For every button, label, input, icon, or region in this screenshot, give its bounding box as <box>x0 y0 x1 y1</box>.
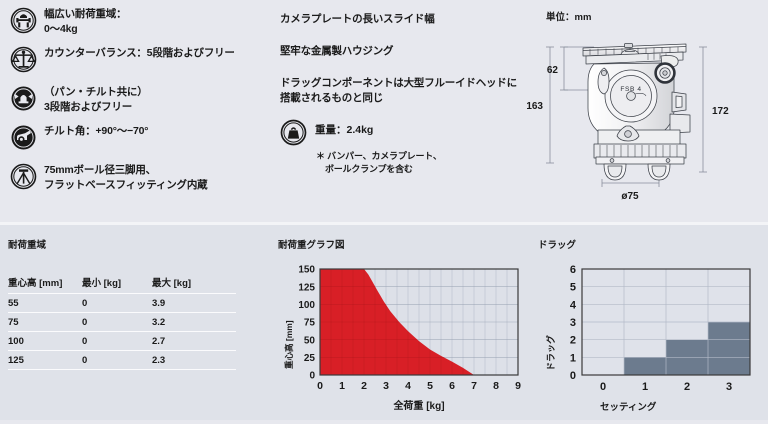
feature-list: 幅広い耐荷重域： 0〜4kg <box>10 6 272 201</box>
y-tick-label: 100 <box>298 300 315 311</box>
x-tick-label: 5 <box>427 380 433 392</box>
y-axis-label: 重心高 [mm] <box>284 320 294 369</box>
dim-62-label: 62 <box>547 65 559 76</box>
x-tick-label: 9 <box>515 380 521 392</box>
y-tick-label: 75 <box>304 318 316 329</box>
table-cell: 55 <box>8 294 82 313</box>
weight-note-line2: ボールクランプを含む <box>316 163 520 176</box>
product-spec-sheet: 幅広い耐荷重域： 0〜4kg <box>0 0 768 420</box>
table-row: 75 0 3.2 <box>8 313 236 332</box>
feature-item: チルト角：+90°〜−70° <box>10 123 272 151</box>
x-tick-label: 8 <box>493 380 499 392</box>
bottom-section: 耐荷重域 重心高 [mm] 最小 [kg] 最大 [kg] 55 0 3.9 <box>0 225 768 420</box>
product-dimension-diagram: 単位：mm <box>520 0 768 222</box>
table-header-row: 重心高 [mm] 最小 [kg] 最大 [kg] <box>8 275 236 294</box>
x-tick-label: 1 <box>339 380 345 392</box>
tripod-ball-icon <box>10 163 37 190</box>
dim-172-label: 172 <box>712 106 729 117</box>
y-tick-label: 50 <box>304 335 316 346</box>
x-tick-label: 3 <box>383 380 389 392</box>
tilt-angle-icon <box>10 124 37 151</box>
dim-163-label: 163 <box>526 101 543 112</box>
table-title: 耐荷重域 <box>8 237 270 251</box>
y-tick-label: 25 <box>304 353 316 364</box>
middle-feature-column: カメラプレートの長いスライド幅 堅牢な金属製ハウジング ドラッグコンポーネントは… <box>280 12 520 176</box>
feature-text: 幅広い耐荷重域： 0〜4kg <box>44 6 126 36</box>
y-tick-label: 1 <box>570 352 576 364</box>
table-col-header: 重心高 [mm] <box>8 275 82 294</box>
top-section: 幅広い耐荷重域： 0〜4kg <box>0 0 768 222</box>
y-tick-label: 0 <box>309 371 315 382</box>
feature-slide-width: カメラプレートの長いスライド幅 <box>280 12 520 27</box>
table-col-header: 最大 [kg] <box>152 275 236 294</box>
y-tick-label: 125 <box>298 282 315 293</box>
y-tick-label: 4 <box>570 299 577 311</box>
feature-drag-component: ドラッグコンポーネントは大型フルーイドヘッドに 搭載されるものと同じ <box>280 76 520 106</box>
bar <box>708 322 750 375</box>
table-cell: 125 <box>8 351 82 370</box>
table-row: 100 0 2.7 <box>8 332 236 351</box>
x-tick-label: 6 <box>449 380 455 392</box>
y-tick-label: 0 <box>570 370 576 382</box>
y-tick-label: 5 <box>570 282 576 294</box>
load-range-table-panel: 耐荷重域 重心高 [mm] 最小 [kg] 最大 [kg] 55 0 3.9 <box>8 237 270 370</box>
x-tick-label: 2 <box>361 380 367 392</box>
bar <box>624 357 666 375</box>
table-cell: 2.3 <box>152 351 236 370</box>
dimension-drawing: 163 62 172 ø75 <box>520 0 768 222</box>
x-tick-label: 0 <box>317 380 323 392</box>
y-tick-label: 2 <box>570 335 576 347</box>
load-capacity-chart-panel: 耐荷重グラフ図 02550751001251500123456789全荷重 [k… <box>278 237 530 424</box>
y-tick-label: 150 <box>298 265 315 276</box>
feature-drag-component-line1: ドラッグコンポーネントは大型フルーイドヘッドに <box>280 76 520 91</box>
feature-text: カウンターバランス：5段階およびフリー <box>44 45 235 61</box>
counterbalance-scale-icon <box>10 46 37 73</box>
feature-item: カウンターバランス：5段階およびフリー <box>10 45 272 73</box>
pan-tilt-drag-icon <box>10 85 37 112</box>
table-row: 125 0 2.3 <box>8 351 236 370</box>
y-axis-label: ドラッグ <box>545 335 556 371</box>
x-tick-label: 3 <box>726 381 732 393</box>
drag-chart-panel: ドラッグ 01234560123セッティングドラッグ <box>538 237 764 424</box>
x-tick-label: 2 <box>684 381 690 393</box>
table-cell: 100 <box>8 332 82 351</box>
table-col-header: 最小 [kg] <box>82 275 152 294</box>
feature-text: 75mmボール径三脚用、 フラットベースフィッティング内蔵 <box>44 162 207 192</box>
feature-item: 幅広い耐荷重域： 0〜4kg <box>10 6 272 36</box>
table-cell: 0 <box>82 313 152 332</box>
feature-item: （パン・チルト共に） 3段階およびフリー <box>10 84 272 114</box>
drag-chart-title: ドラッグ <box>538 237 764 251</box>
feature-drag-component-line2: 搭載されるものと同じ <box>280 91 520 106</box>
table-cell: 75 <box>8 313 82 332</box>
x-tick-label: 4 <box>405 380 411 392</box>
weight-spec: 重量：2.4kg <box>280 119 520 146</box>
x-axis-label: 全荷重 [kg] <box>392 399 444 412</box>
load-range-table: 重心高 [mm] 最小 [kg] 最大 [kg] 55 0 3.9 75 0 3… <box>8 275 236 370</box>
weight-label: 重量：2.4kg <box>315 119 373 137</box>
table-cell: 0 <box>82 351 152 370</box>
x-tick-label: 0 <box>600 381 606 393</box>
table-row: 55 0 3.9 <box>8 294 236 313</box>
chart-title: 耐荷重グラフ図 <box>278 237 530 251</box>
table-cell: 0 <box>82 294 152 313</box>
feature-text: チルト角：+90°〜−70° <box>44 123 148 139</box>
feature-metal-housing: 堅牢な金属製ハウジング <box>280 44 520 59</box>
feature-item: 75mmボール径三脚用、 フラットベースフィッティング内蔵 <box>10 162 272 192</box>
y-tick-label: 3 <box>570 317 576 329</box>
table-cell: 2.7 <box>152 332 236 351</box>
product-mark: FSB 4 <box>620 86 641 93</box>
table-cell: 0 <box>82 332 152 351</box>
table-cell: 3.2 <box>152 313 236 332</box>
dim-diameter-label: ø75 <box>621 191 639 202</box>
x-tick-label: 7 <box>471 380 477 392</box>
x-axis-label: セッティング <box>600 401 657 413</box>
y-tick-label: 6 <box>570 264 576 276</box>
weight-note: ＊ バンパー、カメラプレート、 ボールクランプを含む <box>316 150 520 176</box>
x-tick-label: 1 <box>642 381 648 393</box>
table-cell: 3.9 <box>152 294 236 313</box>
load-range-icon <box>10 7 37 34</box>
load-capacity-chart: 02550751001251500123456789全荷重 [kg]重心高 [m… <box>278 259 528 419</box>
drag-chart: 01234560123セッティングドラッグ <box>538 259 762 419</box>
feature-text: （パン・チルト共に） 3段階およびフリー <box>44 84 148 114</box>
weight-note-line1: ＊ バンパー、カメラプレート、 <box>316 150 520 163</box>
weight-icon <box>280 119 307 146</box>
